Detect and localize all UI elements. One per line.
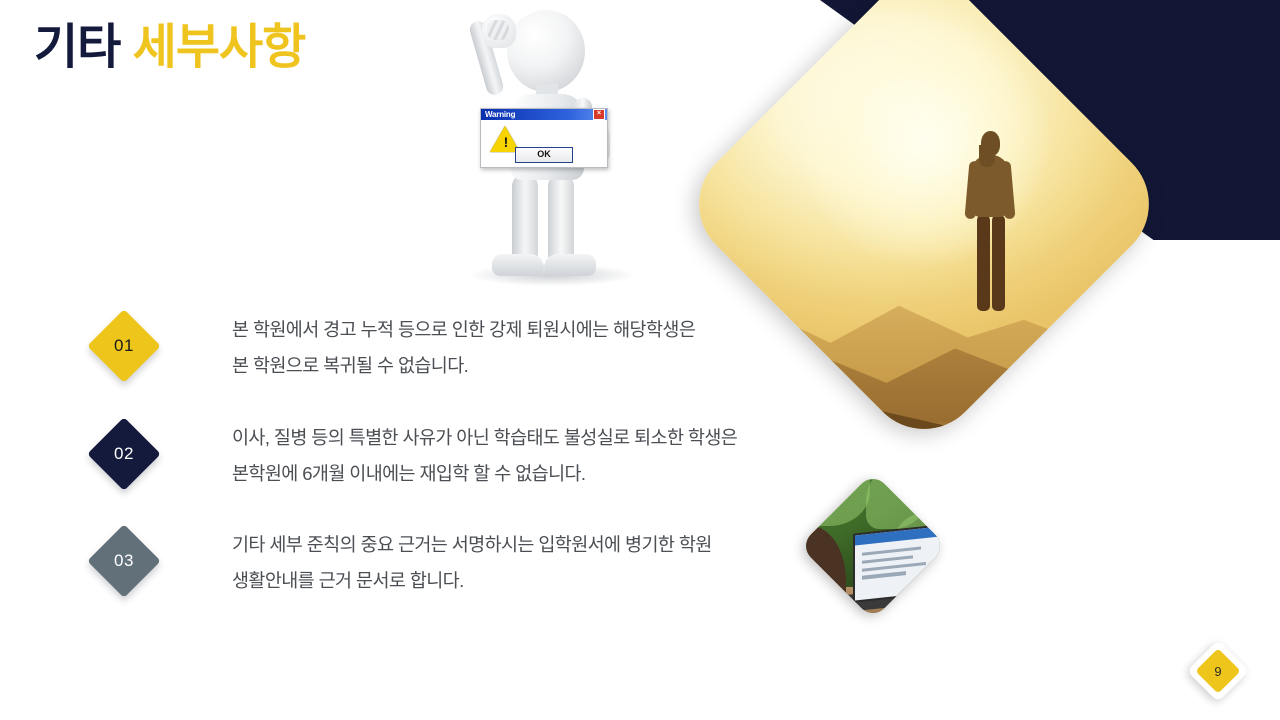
bullet-text-01: 본 학원에서 경고 누적 등으로 인한 강제 퇴원시에는 해당학생은 본 학원으…: [232, 312, 872, 384]
warning-exclamation-glyph: !: [502, 135, 510, 149]
bullet-badge-02: 02: [87, 417, 161, 491]
warning-dialog-title: Warning: [483, 109, 515, 120]
bullet-text-03: 기타 세부 준칙의 중요 근거는 서명하시는 입학원서에 병기한 학원 생활안내…: [232, 527, 872, 599]
bullet-text-02: 이사, 질병 등의 특별한 사유가 아닌 학습태도 불성실로 퇴소한 학생은 본…: [232, 420, 872, 492]
silhouette-leg-left: [977, 215, 990, 311]
figure-leg-left: [512, 174, 538, 266]
figure-leg-right: [548, 174, 574, 266]
page-number-badge: 9: [1196, 649, 1240, 693]
bullet-line: 이사, 질병 등의 특별한 사유가 아닌 학습태도 불성실로 퇴소한 학생은: [232, 420, 872, 456]
page-title-gold: 세부사항: [133, 21, 306, 74]
ok-button[interactable]: OK: [515, 147, 573, 163]
bullet-line: 본 학원에서 경고 누적 등으로 인한 강제 퇴원시에는 해당학생은: [232, 312, 872, 348]
bullet-badge-01: 01: [87, 309, 161, 383]
silhouette-leg-right: [992, 215, 1005, 311]
bullet-badge-number: 03: [98, 535, 150, 587]
figure-head: [507, 10, 585, 92]
warning-dialog-titlebar: Warning ×: [481, 109, 607, 120]
bullet-badge-number: 01: [98, 320, 150, 372]
silhouette-head: [981, 131, 1000, 156]
warning-figure-illustration: Warning × ! OK: [452, 2, 652, 290]
figure-foot-right: [544, 254, 596, 276]
slide-root: 기타 세부사항: [0, 0, 1280, 720]
figure-foot-left: [492, 254, 544, 276]
page-title-dark: 기타: [34, 21, 120, 74]
warning-dialog-body: ! OK: [481, 120, 607, 167]
bullet-line: 본 학원으로 복귀될 수 없습니다.: [232, 348, 872, 384]
close-icon[interactable]: ×: [593, 109, 605, 120]
bullet-badge-03: 03: [87, 524, 161, 598]
bullet-line: 기타 세부 준칙의 중요 근거는 서명하시는 입학원서에 병기한 학원: [232, 527, 872, 563]
page-title: 기타 세부사항: [34, 24, 305, 72]
page-number-text: 9: [1196, 649, 1240, 693]
bullet-badge-number: 02: [98, 428, 150, 480]
bullet-line: 생활안내를 근거 문서로 합니다.: [232, 563, 872, 599]
warning-dialog: Warning × ! OK: [480, 108, 608, 168]
bullet-line: 본학원에 6개월 이내에는 재입학 할 수 없습니다.: [232, 456, 872, 492]
person-silhouette: [955, 131, 1025, 331]
figure-hand-on-head: [482, 14, 516, 48]
